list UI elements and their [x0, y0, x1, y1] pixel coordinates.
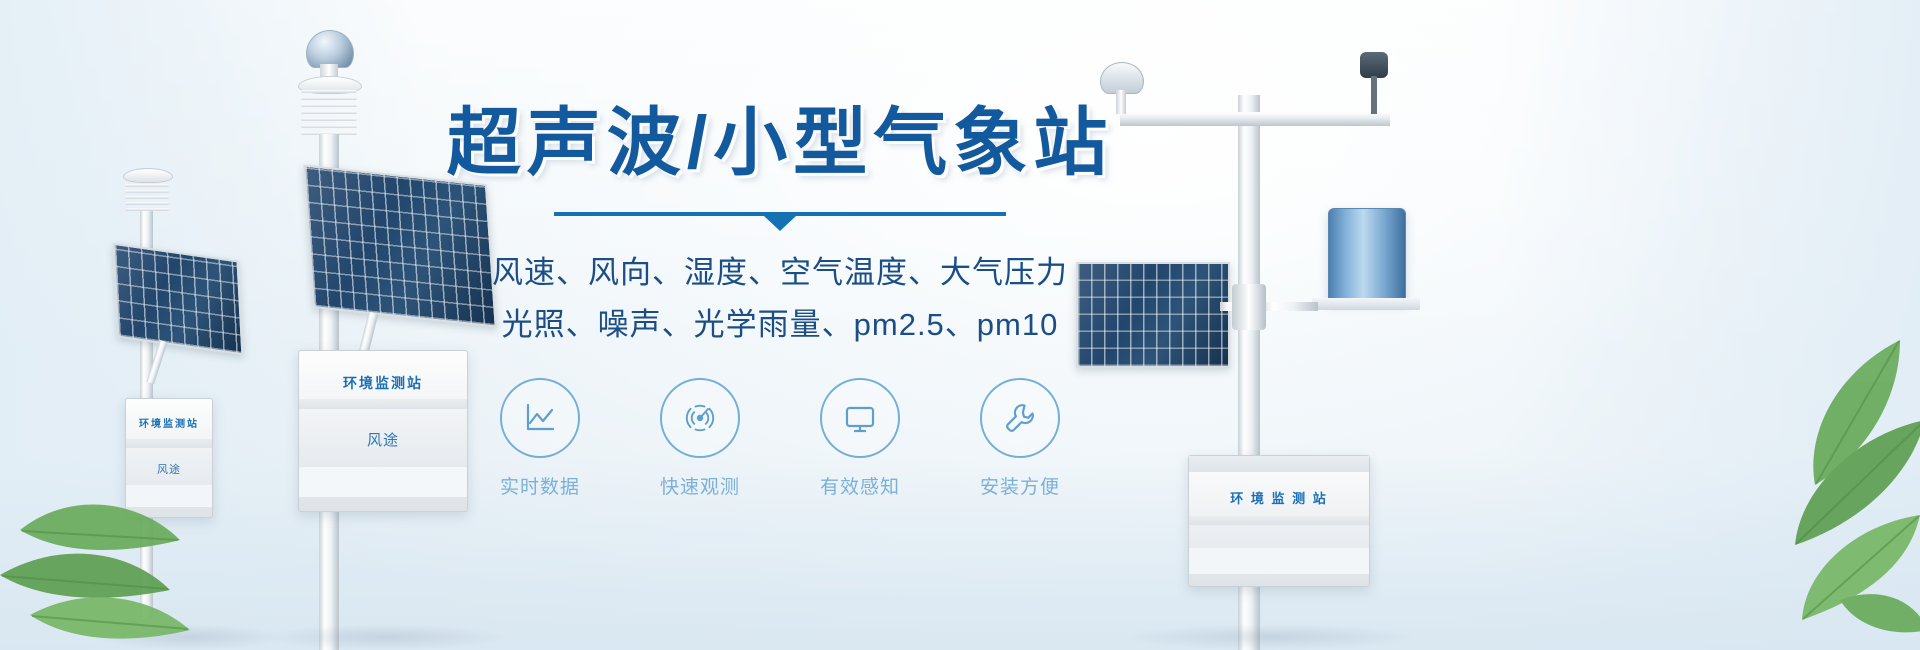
feature-item-easy-installation[interactable]: 安装方便: [960, 378, 1080, 499]
subtitle-line-1: 风速、风向、湿度、空气温度、大气压力: [430, 248, 1130, 298]
wrench-tool-icon: [1000, 398, 1040, 438]
product-banner: 环境监测站 风途 环境监测站 风途: [0, 0, 1920, 650]
mid-station-shadow: [260, 624, 510, 650]
mid-radiation-shield: [301, 90, 357, 136]
right-rain-gauge: [1328, 208, 1406, 302]
feature-icon-circle: [980, 378, 1060, 458]
left-shield-cap: [123, 168, 173, 183]
feature-label: 安装方便: [960, 472, 1080, 499]
right-mast-collar: [1232, 284, 1266, 330]
mid-ultrasonic-sensor: [306, 30, 354, 68]
right-cabinet-top-band: [1189, 456, 1369, 472]
banner-text-block: 超声波/小型气象站 风速、风向、湿度、空气温度、大气压力 光照、噪声、光学雨量、…: [430, 100, 1130, 570]
right-rain-gauge-shelf: [1312, 298, 1420, 310]
radar-signal-icon: [680, 398, 720, 438]
feature-label: 有效感知: [800, 472, 920, 499]
feature-item-fast-observation[interactable]: 快速观测: [640, 378, 760, 499]
right-cabinet: 环 境 监 测 站: [1188, 455, 1370, 587]
feature-item-effective-sensing[interactable]: 有效感知: [800, 378, 920, 499]
left-radiation-shield: [125, 178, 169, 212]
left-solar-panel: [113, 243, 244, 356]
monitor-screen-icon: [840, 398, 880, 438]
feature-item-realtime-data[interactable]: 实时数据: [480, 378, 600, 499]
feature-icon-circle: [660, 378, 740, 458]
right-cabinet-band: [1189, 516, 1369, 525]
feature-icon-circle: [500, 378, 580, 458]
feature-list: 实时数据: [430, 378, 1130, 499]
feature-label: 快速观测: [640, 472, 760, 499]
subtitle-line-2: 光照、噪声、光学雨量、pm2.5、pm10: [430, 300, 1130, 350]
feature-icon-circle: [820, 378, 900, 458]
title-divider: [554, 212, 1006, 226]
right-station-shadow: [1120, 624, 1420, 650]
right-leaf-decoration: [1590, 300, 1920, 640]
feature-label: 实时数据: [480, 472, 600, 499]
right-cabinet-label: 环 境 监 测 站: [1189, 488, 1369, 507]
divider-triangle-icon: [764, 216, 796, 231]
right-vane-stem: [1371, 76, 1377, 114]
right-wind-vane: [1360, 52, 1388, 78]
left-leaf-decoration: [0, 400, 290, 650]
right-cabinet-lower-band: [1189, 548, 1369, 574]
line-chart-icon: [520, 398, 560, 438]
page-title: 超声波/小型气象站: [430, 100, 1130, 186]
right-cross-arm: [1120, 112, 1390, 126]
